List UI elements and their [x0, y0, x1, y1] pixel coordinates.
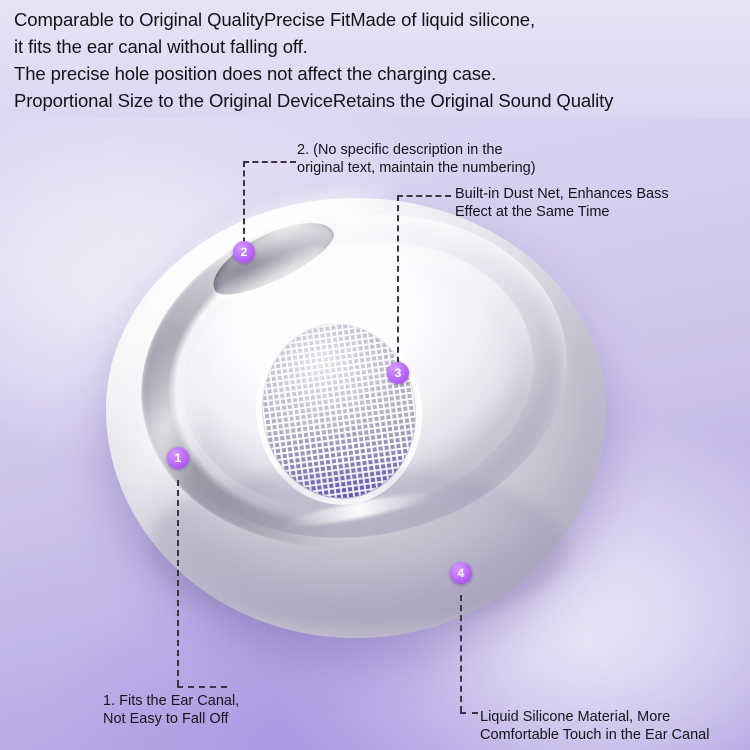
- callout-text-1: 1. Fits the Ear Canal, Not Easy to Fall …: [103, 692, 363, 728]
- leader-4-horizontal: [460, 712, 478, 714]
- callout-badge-2[interactable]: 2: [233, 241, 255, 263]
- callout-badge-1[interactable]: 1: [167, 447, 189, 469]
- callout-text-3: Built-in Dust Net, Enhances Bass Effect …: [455, 185, 705, 221]
- product-annotation-image: Comparable to Original QualityPrecise Fi…: [0, 0, 750, 750]
- leader-4-vertical: [460, 595, 462, 712]
- callout-text-2: 2. (No specific description in the origi…: [297, 141, 547, 177]
- callout-badge-4[interactable]: 4: [450, 562, 472, 584]
- callout-badge-3[interactable]: 3: [387, 362, 409, 384]
- callout-text-4: Liquid Silicone Material, More Comfortab…: [480, 708, 750, 744]
- leader-line-4: [0, 0, 750, 750]
